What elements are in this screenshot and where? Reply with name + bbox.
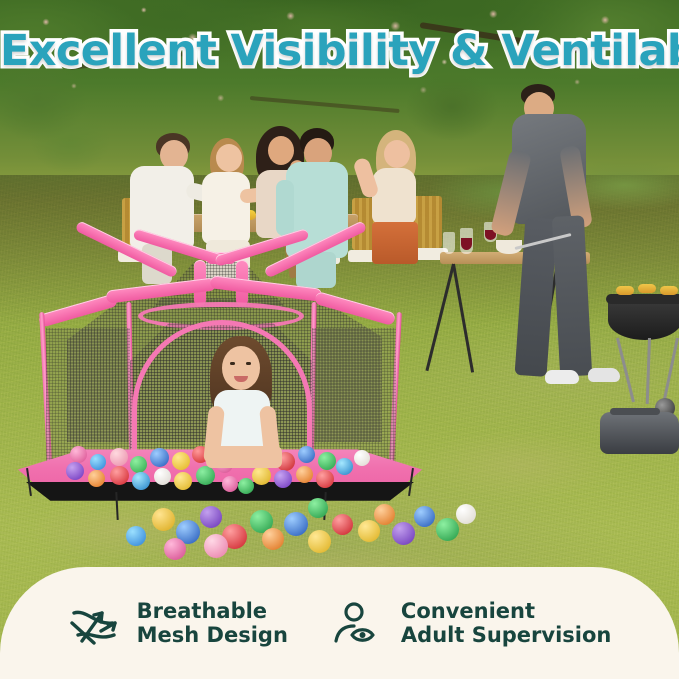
charcoal-grill bbox=[608, 300, 679, 340]
sneaker bbox=[588, 368, 620, 382]
eye bbox=[230, 362, 235, 365]
product-marketing-image: Excellent Visibility & Ventilability Bre… bbox=[0, 0, 679, 679]
feature-line-1: Convenient bbox=[401, 599, 535, 623]
headline-text: Excellent Visibility & Ventilability bbox=[0, 26, 679, 76]
mesh-wall-left bbox=[46, 328, 130, 468]
water-glass bbox=[443, 232, 455, 254]
person-eye-supervision-icon bbox=[332, 597, 388, 649]
feature-panel: Breathable Mesh Design Convenient Adult … bbox=[0, 567, 679, 679]
sneaker bbox=[545, 370, 579, 384]
feature-breathable-mesh: Breathable Mesh Design bbox=[68, 597, 288, 649]
airflow-mesh-icon bbox=[68, 597, 124, 649]
feature-adult-supervision: Convenient Adult Supervision bbox=[332, 597, 611, 649]
hanging-foliage bbox=[0, 60, 122, 190]
mat-black-trim bbox=[18, 482, 422, 506]
playpen-tent bbox=[10, 250, 430, 550]
corn-cob bbox=[660, 286, 678, 295]
lawn-patch bbox=[420, 430, 620, 500]
feature-line-1: Breathable bbox=[137, 599, 267, 623]
feature-line-2: Adult Supervision bbox=[401, 623, 611, 647]
eye bbox=[246, 362, 251, 365]
cooler-bag bbox=[600, 412, 679, 454]
corn-cob bbox=[638, 284, 656, 293]
cooler-handle bbox=[610, 408, 660, 415]
grill-rim bbox=[606, 294, 679, 304]
wine-liquid bbox=[461, 238, 472, 250]
mesh-wall-right bbox=[312, 328, 396, 468]
feature-label-breathable: Breathable Mesh Design bbox=[137, 599, 288, 648]
feature-line-2: Mesh Design bbox=[137, 623, 288, 647]
feature-label-supervision: Convenient Adult Supervision bbox=[401, 599, 611, 648]
corn-cob bbox=[616, 286, 634, 295]
